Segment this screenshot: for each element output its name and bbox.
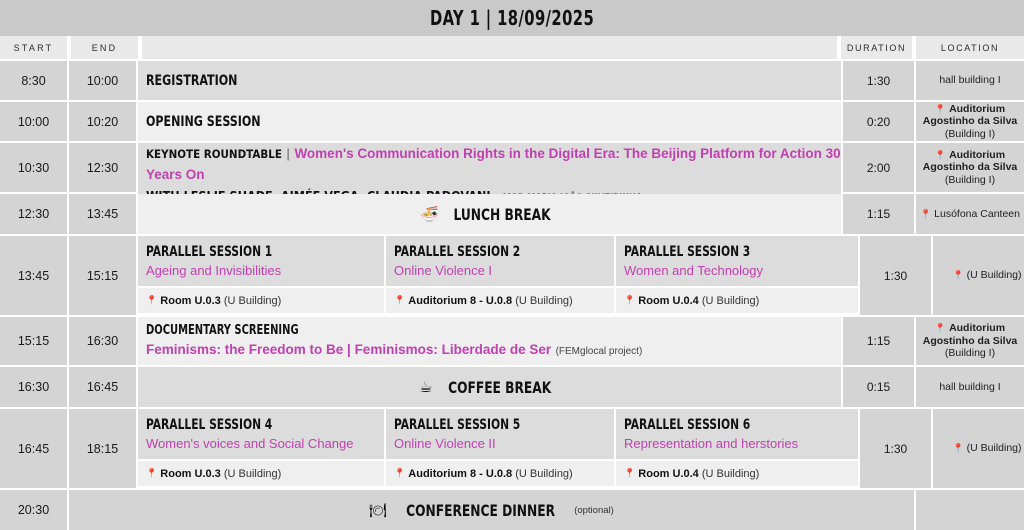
lunch-icon: 🍜 [420, 207, 439, 222]
keynote-label: KEYNOTE ROUNDTABLE [146, 147, 282, 161]
room-building: (U Building) [702, 295, 759, 307]
pin-icon: 📍 [394, 468, 405, 479]
location-name: (U Building) [967, 442, 1022, 454]
room-building: (U Building) [515, 295, 572, 307]
session-cell[interactable]: PARALLEL SESSION 5 Online Violence II [386, 409, 614, 459]
session-room: 📍 Auditorium 8 - U.0.8 (U Building) [386, 461, 614, 486]
session-cell[interactable]: PARALLEL SESSION 6 Representation and he… [616, 409, 858, 459]
session-cell[interactable]: PARALLEL SESSION 4 Women's voices and So… [138, 409, 384, 459]
table-row: 15:15 16:30 DOCUMENTARY SCREENING Femini… [0, 317, 1024, 365]
row-start-time: 8:30 [0, 61, 67, 100]
room-name: Room U.0.4 [638, 295, 699, 307]
row-start-time: 16:45 [0, 409, 67, 488]
pin-icon: 📍 [953, 270, 964, 280]
parallel-session-column[interactable]: PARALLEL SESSION 5 Online Violence II 📍 … [386, 409, 614, 488]
session-topic: Online Violence I [394, 263, 614, 278]
session-name: PARALLEL SESSION 6 [624, 417, 823, 433]
pin-icon: 📍 [935, 150, 946, 160]
dinner-cell[interactable]: 🍽 CONFERENCE DINNER (optional) [69, 490, 914, 530]
break-title: COFFEE BREAK [448, 378, 551, 397]
room-building: (U Building) [224, 295, 281, 307]
parallel-session-column[interactable]: PARALLEL SESSION 3 Women and Technology … [616, 236, 858, 315]
session-name: PARALLEL SESSION 2 [394, 244, 581, 260]
session-topic: Online Violence II [394, 436, 614, 451]
row-end-time: 16:45 [69, 367, 136, 407]
location-building: (Building I) [945, 174, 995, 186]
row-location: 📍 (U Building) [933, 236, 1024, 315]
pin-icon: 📍 [920, 209, 931, 219]
row-duration: 2:00 [843, 143, 914, 192]
row-location: 📍 (U Building) [933, 409, 1024, 488]
session-topic: Representation and herstories [624, 436, 858, 451]
table-row: 8:30 10:00 REGISTRATION 1:30 hall buildi… [0, 61, 1024, 100]
row-start-time: 16:30 [0, 367, 67, 407]
table-row: 10:30 12:30 KEYNOTE ROUNDTABLE | Women's… [0, 143, 1024, 192]
room-building: (U Building) [224, 468, 281, 480]
pin-icon: 📍 [953, 443, 964, 453]
location-name: Lusófona Canteen [934, 208, 1020, 220]
session-room: 📍 Room U.0.4 (U Building) [616, 288, 858, 313]
row-start-time: 10:30 [0, 143, 67, 192]
room-name: Room U.0.4 [638, 468, 699, 480]
session-cell[interactable]: OPENING SESSION [138, 102, 841, 141]
session-cell[interactable]: PARALLEL SESSION 1 Ageing and Invisibili… [138, 236, 384, 286]
session-cell[interactable]: PARALLEL SESSION 3 Women and Technology [616, 236, 858, 286]
keynote-separator: | [286, 146, 290, 161]
table-row: 10:00 10:20 OPENING SESSION 0:20 📍 Audit… [0, 102, 1024, 141]
column-header-location: LOCATION [916, 36, 1024, 59]
column-header-program [142, 36, 837, 59]
dinner-title: CONFERENCE DINNER [406, 501, 555, 520]
room-building: (U Building) [515, 468, 572, 480]
coffee-icon: ☕ [419, 380, 432, 395]
session-room: 📍 Room U.0.3 (U Building) [138, 461, 384, 486]
row-start-time: 15:15 [0, 317, 67, 365]
row-duration: 1:15 [843, 194, 914, 234]
session-topic: Women's voices and Social Change [146, 436, 384, 451]
session-room: 📍 Room U.0.3 (U Building) [138, 288, 384, 313]
row-duration: 1:15 [843, 317, 914, 365]
pin-icon: 📍 [624, 295, 635, 306]
row-duration: 1:30 [860, 409, 931, 488]
session-title: REGISTRATION [146, 73, 237, 89]
room-name: Room U.0.3 [160, 468, 221, 480]
pin-icon: 📍 [624, 468, 635, 479]
parallel-session-column[interactable]: PARALLEL SESSION 4 Women's voices and So… [138, 409, 384, 488]
page-title: DAY 1 | 18/09/2025 [430, 6, 594, 30]
location-name: hall building I [939, 381, 1000, 393]
row-end-time: 13:45 [69, 194, 136, 234]
room-name: Auditorium 8 - U.0.8 [408, 295, 512, 307]
break-title: LUNCH BREAK [453, 205, 550, 224]
row-end-time: 18:15 [69, 409, 136, 488]
row-start-time: 10:00 [0, 102, 67, 141]
column-header-start: START [0, 36, 67, 59]
row-location: 📍 Auditorium Agostinho da Silva (Buildin… [916, 102, 1024, 141]
location-building: (Building I) [945, 128, 995, 140]
session-room: 📍 Auditorium 8 - U.0.8 (U Building) [386, 288, 614, 313]
row-end-time: 16:30 [69, 317, 136, 365]
documentary-label: DOCUMENTARY SCREENING [146, 323, 737, 338]
session-name: PARALLEL SESSION 4 [146, 417, 348, 433]
row-duration: 0:20 [843, 102, 914, 141]
documentary-note: (FEMglocal project) [556, 346, 643, 357]
row-location: hall building I [916, 61, 1024, 100]
column-header-end: END [71, 36, 138, 59]
pin-icon: 📍 [935, 323, 946, 333]
row-end-time: 12:30 [69, 143, 136, 192]
documentary-title: Feminisms: the Freedom to Be | Feminismo… [146, 342, 551, 357]
dinner-icon: 🍽 [369, 502, 387, 519]
pin-icon: 📍 [394, 295, 405, 306]
session-cell[interactable]: REGISTRATION [138, 61, 841, 100]
row-start-time: 20:30 [0, 490, 67, 530]
row-location [916, 490, 1024, 530]
location-building: (Building I) [945, 347, 995, 359]
session-topic: Women and Technology [624, 263, 858, 278]
room-building: (U Building) [702, 468, 759, 480]
row-end-time: 15:15 [69, 236, 136, 315]
row-duration: 0:15 [843, 367, 914, 407]
schedule-table: DAY 1 | 18/09/2025 START END DURATION LO… [0, 0, 1024, 508]
session-name: PARALLEL SESSION 3 [624, 244, 823, 260]
parallel-session-column[interactable]: PARALLEL SESSION 2 Online Violence I 📍 A… [386, 236, 614, 315]
session-cell[interactable]: PARALLEL SESSION 2 Online Violence I [386, 236, 614, 286]
row-start-time: 12:30 [0, 194, 67, 234]
parallel-session-column[interactable]: PARALLEL SESSION 6 Representation and he… [616, 409, 858, 488]
row-start-time: 13:45 [0, 236, 67, 315]
session-cell[interactable]: DOCUMENTARY SCREENING Feminisms: the Fre… [138, 317, 841, 365]
break-cell: ☕ COFFEE BREAK [138, 367, 841, 407]
row-location: hall building I [916, 367, 1024, 407]
session-topic: Ageing and Invisibilities [146, 263, 384, 278]
column-header-duration: DURATION [841, 36, 912, 59]
session-room: 📍 Room U.0.4 (U Building) [616, 461, 858, 486]
row-end-time: 10:20 [69, 102, 136, 141]
location-name: (U Building) [967, 269, 1022, 281]
break-cell: 🍜 LUNCH BREAK [138, 194, 841, 234]
parallel-session-column[interactable]: PARALLEL SESSION 1 Ageing and Invisibili… [138, 236, 384, 315]
table-row: 16:45 18:15 PARALLEL SESSION 4 Women's v… [0, 409, 1024, 488]
table-row: 13:45 15:15 PARALLEL SESSION 1 Ageing an… [0, 236, 1024, 315]
table-row: 16:30 16:45 ☕ COFFEE BREAK 0:15 hall bui… [0, 367, 1024, 407]
row-duration: 1:30 [843, 61, 914, 100]
location-name: hall building I [939, 74, 1000, 86]
session-name: PARALLEL SESSION 1 [146, 244, 348, 260]
column-header-row: START END DURATION LOCATION [0, 36, 1024, 59]
room-name: Room U.0.3 [160, 295, 221, 307]
row-duration: 1:30 [860, 236, 931, 315]
session-title: OPENING SESSION [146, 114, 261, 130]
session-name: PARALLEL SESSION 5 [394, 417, 581, 433]
table-row: 20:30 🍽 CONFERENCE DINNER (optional) [0, 490, 1024, 530]
dinner-note: (optional) [574, 505, 614, 516]
row-end-time: 10:00 [69, 61, 136, 100]
pin-icon: 📍 [146, 295, 157, 306]
row-location: 📍 Auditorium Agostinho da Silva (Buildin… [916, 143, 1024, 192]
pin-icon: 📍 [935, 104, 946, 114]
pin-icon: 📍 [146, 468, 157, 479]
row-location: 📍 Lusófona Canteen [916, 194, 1024, 234]
table-row: 12:30 13:45 🍜 LUNCH BREAK 1:15 📍 Lusófon… [0, 194, 1024, 234]
row-location: 📍 Auditorium Agostinho da Silva (Buildin… [916, 317, 1024, 365]
day-title-bar: DAY 1 | 18/09/2025 [0, 0, 1024, 36]
room-name: Auditorium 8 - U.0.8 [408, 468, 512, 480]
